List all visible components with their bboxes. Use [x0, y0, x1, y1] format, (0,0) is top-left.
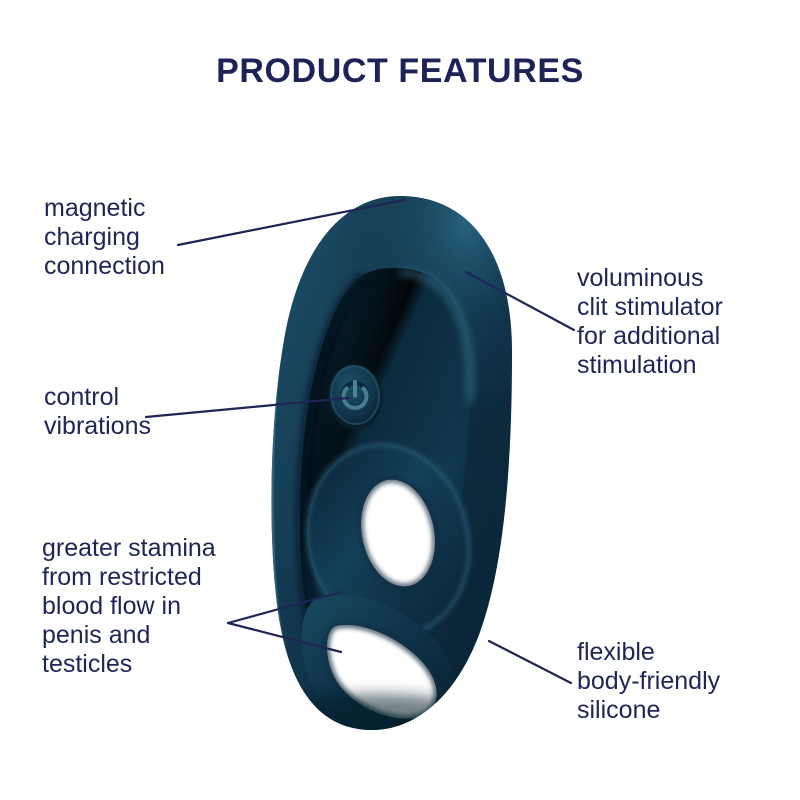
leader-line-flexible — [489, 641, 571, 683]
callout-magnetic-charging-connection: magnetic charging connection — [44, 194, 259, 281]
callout-control-vibrations: control vibrations — [44, 383, 259, 441]
product-features-infographic: PRODUCT FEATURES — [0, 0, 800, 800]
callout-greater-stamina: greater stamina from restricted blood fl… — [42, 534, 267, 679]
product-body — [266, 150, 558, 754]
callout-voluminous-clit-stimulator: voluminous clit stimulator for additiona… — [577, 264, 792, 380]
callout-flexible-silicone: flexible body-friendly silicone — [577, 638, 792, 725]
